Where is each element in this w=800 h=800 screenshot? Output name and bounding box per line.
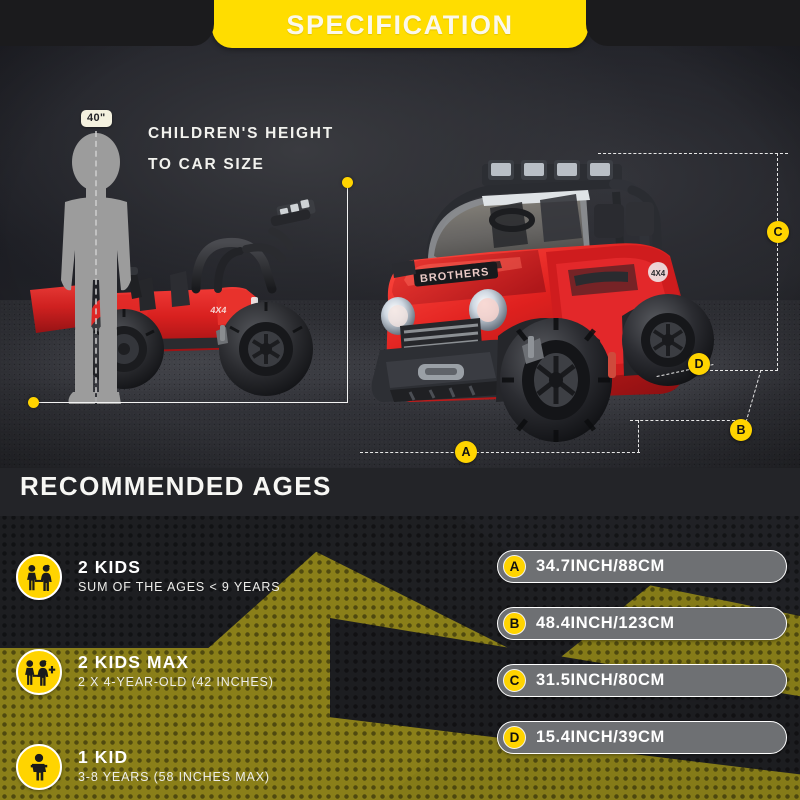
age-title: 2 KIDS — [78, 557, 280, 577]
age-row: 2 KIDS MAX 2 X 4-YEAR-OLD (42 INCHES) — [16, 643, 466, 701]
dimension-letter-badge: A — [503, 555, 526, 578]
age-rows-list: 2 KIDS SUM OF THE AGES < 9 YEARS — [16, 548, 466, 800]
height-reference-dashed-line — [95, 131, 97, 403]
dim-marker-b: B — [730, 419, 752, 441]
product-photo-area: 4X4 — [0, 0, 800, 468]
age-text-block: 2 KIDS SUM OF THE AGES < 9 YEARS — [78, 557, 280, 597]
dim-a-tick-right — [638, 420, 639, 452]
age-subtitle: 3-8 YEARS (58 INCHES MAX) — [78, 768, 270, 787]
banner-right-notch — [586, 0, 800, 46]
age-row: 2 KIDS SUM OF THE AGES < 9 YEARS — [16, 548, 466, 606]
height-badge: 40" — [81, 110, 112, 127]
dimension-letter-badge: C — [503, 669, 526, 692]
age-subtitle: 2 X 4-YEAR-OLD (42 INCHES) — [78, 673, 274, 692]
two-kids-icon — [16, 554, 62, 600]
car-side-badge-text: 4X4 — [651, 269, 666, 278]
headline-line-1: CHILDREN'S HEIGHT — [148, 118, 334, 149]
guide-dot-bottom-left — [28, 397, 39, 408]
svg-text:4X4: 4X4 — [210, 305, 227, 315]
one-kid-icon — [16, 744, 62, 790]
dimension-letter-badge: B — [503, 612, 526, 635]
dim-c-line-top — [598, 153, 788, 154]
age-subtitle: SUM OF THE AGES < 9 YEARS — [78, 578, 280, 597]
height-guide-horizontal — [36, 402, 348, 403]
two-kids-plus-icon — [16, 649, 62, 695]
age-title: 2 KIDS MAX — [78, 652, 274, 672]
dim-c-line-vertical — [777, 153, 778, 371]
dimension-value: 34.7INCH/88CM — [536, 557, 665, 576]
dim-marker-a: A — [455, 441, 477, 463]
specification-banner: SPECIFICATION — [212, 0, 588, 48]
dimension-value: 48.4INCH/123CM — [536, 614, 675, 633]
dim-marker-d: D — [688, 353, 710, 375]
age-text-block: 2 KIDS MAX 2 X 4-YEAR-OLD (42 INCHES) — [78, 652, 274, 692]
dimension-letter-badge: D — [503, 726, 526, 749]
dimension-pill-b: B 48.4INCH/123CM — [497, 607, 787, 640]
dimension-pill-a: A 34.7INCH/88CM — [497, 550, 787, 583]
age-text-block: 1 KID 3-8 YEARS (58 INCHES MAX) — [78, 747, 270, 787]
age-row: 1 KID 3-8 YEARS (58 INCHES MAX) — [16, 738, 466, 796]
guide-dot-top-right — [342, 177, 353, 188]
dimension-pill-list: A 34.7INCH/88CM B 48.4INCH/123CM C 31.5I… — [497, 550, 787, 778]
headline-line-2: TO CAR SIZE — [148, 149, 334, 180]
dim-marker-c: C — [767, 221, 789, 243]
banner-title: SPECIFICATION — [286, 12, 513, 48]
dimension-value: 31.5INCH/80CM — [536, 671, 665, 690]
dimension-pill-c: C 31.5INCH/80CM — [497, 664, 787, 697]
dimension-value: 15.4INCH/39CM — [536, 728, 665, 747]
infographic-canvas: 4X4 — [0, 0, 800, 800]
photo-headline: CHILDREN'S HEIGHT TO CAR SIZE — [148, 118, 334, 180]
section-title: RECOMMENDED AGES — [20, 473, 332, 499]
age-title: 1 KID — [78, 747, 270, 767]
dim-a-line — [360, 452, 640, 453]
height-guide-vertical — [347, 184, 348, 403]
dimension-pill-d: D 15.4INCH/39CM — [497, 721, 787, 754]
banner-left-notch — [0, 0, 214, 46]
